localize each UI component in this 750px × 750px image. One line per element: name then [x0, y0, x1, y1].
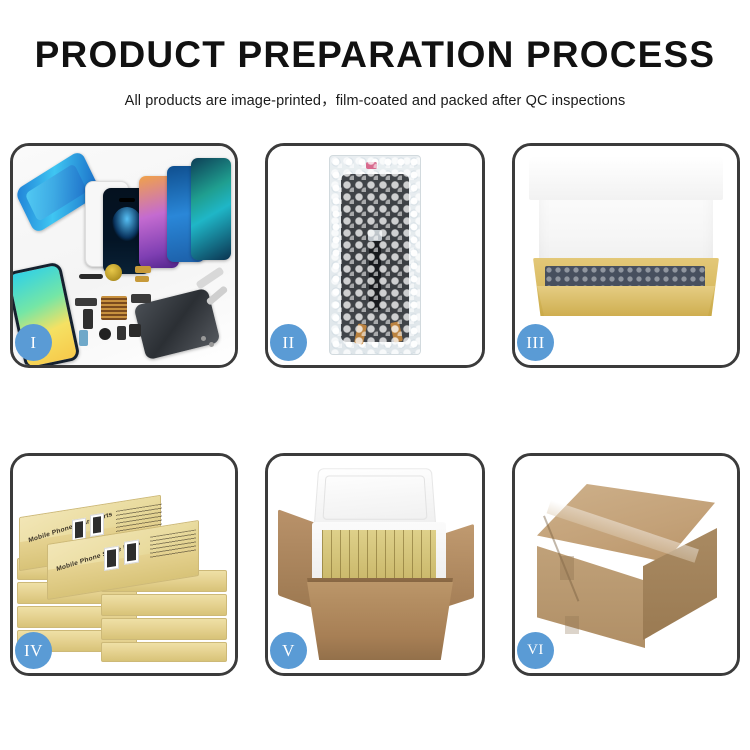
page-title: PRODUCT PREPARATION PROCESS: [0, 36, 750, 75]
step-badge-2: II: [270, 324, 307, 361]
chip-part: [129, 324, 141, 337]
carton-flap-mark-1: [560, 556, 574, 580]
step-badge-1: I: [15, 324, 52, 361]
step-badge-6: VI: [517, 632, 554, 669]
page-header: PRODUCT PREPARATION PROCESS All products…: [0, 0, 750, 110]
tweezer-tool: [195, 266, 224, 289]
step-panel-2[interactable]: II: [265, 143, 485, 368]
step-badge-3: III: [517, 324, 554, 361]
box-phone-graphic: [124, 539, 139, 564]
gold-connector-part-2: [135, 276, 149, 282]
step-panel-1[interactable]: I: [10, 143, 238, 368]
carton-body: [304, 582, 456, 660]
kraft-tray-front: [537, 286, 715, 316]
box-phone-graphic: [90, 513, 104, 537]
carton-left-face: [537, 546, 645, 648]
camera-part: [99, 328, 111, 340]
pink-label-tab: [366, 162, 377, 169]
step-badge-5: V: [270, 632, 307, 669]
screw-part-2: [209, 342, 214, 347]
speaker-part: [79, 274, 103, 279]
step-badge-4: IV: [15, 632, 52, 669]
flex-cable-part-3: [131, 294, 151, 303]
flex-cable-part-1: [75, 298, 97, 306]
box-stack: Mobile Phone Spare Parts Mobile Phone Sp…: [17, 470, 231, 662]
gold-connector-part-1: [135, 266, 151, 273]
carton-flap-mark-2: [565, 616, 579, 634]
coil-part: [105, 264, 122, 281]
mesh-part: [101, 296, 127, 320]
button-part: [117, 326, 126, 340]
sim-tray-part: [79, 330, 88, 346]
step-panel-6[interactable]: VI: [512, 453, 740, 676]
process-steps-grid: I II III: [10, 143, 740, 676]
stacked-box: [101, 594, 227, 616]
stacked-box: [101, 642, 227, 662]
screw-part-1: [201, 336, 206, 341]
flex-cable-part-2: [83, 309, 93, 329]
wrapped-connector: [368, 230, 382, 241]
foam-lid: [529, 156, 723, 200]
teal-gradient-screen: [191, 158, 231, 260]
step-panel-3[interactable]: III: [512, 143, 740, 368]
page-subtitle: All products are image-printed，film-coat…: [0, 89, 750, 110]
row-spacer: [10, 368, 740, 453]
yellow-boxes-inside: [322, 530, 436, 580]
bubble-wrap-bag: [329, 155, 421, 355]
box-phone-graphic: [104, 546, 119, 571]
stacked-box: [101, 618, 227, 640]
step-panel-4[interactable]: Mobile Phone Spare Parts Mobile Phone Sp…: [10, 453, 238, 676]
step-panel-5[interactable]: V: [265, 453, 485, 676]
foam-lid-open: [314, 468, 437, 528]
wrapped-flex-cable: [369, 234, 381, 310]
